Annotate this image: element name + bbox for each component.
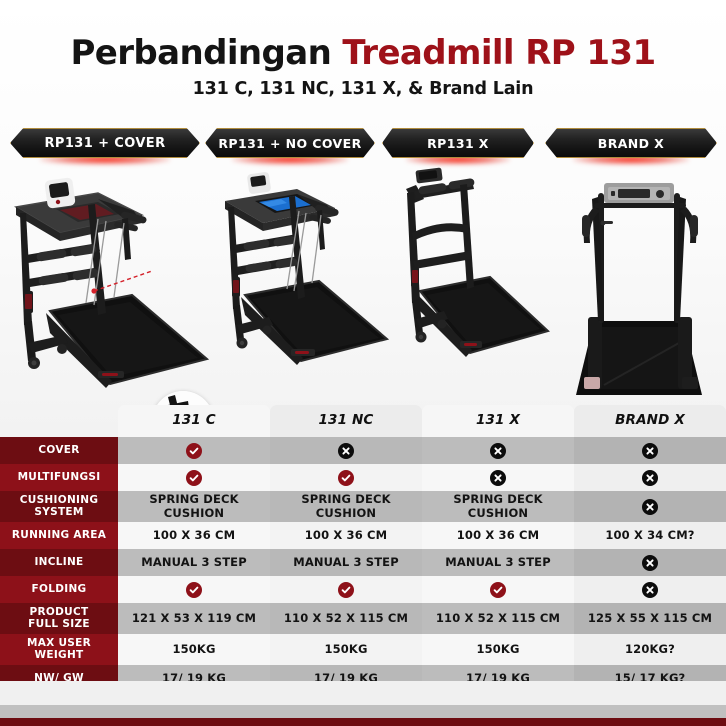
cross-icon [490,443,506,459]
table-cell: MANUAL 3 STEP [422,549,574,576]
table-col-header-131c: 131 C [118,405,270,437]
table-body: COVERMULTIFUNGSICUSHIONINGSYSTEMSPRING D… [0,437,726,692]
table-row-label: MULTIFUNGSI [0,464,118,491]
footer-gray-bar [0,705,726,718]
treadmill-rp131-no-cover-illustration [215,163,395,405]
table-row-label: INCLINE [0,549,118,576]
cross-icon [490,470,506,486]
table-cell: 150KG [118,634,270,665]
check-icon [338,582,354,598]
table-row-label: COVER [0,437,118,464]
table-col-header-131x: 131 X [422,405,574,437]
product-image-rp131-no-cover [215,163,395,405]
table-cell [574,437,726,464]
check-icon [186,443,202,459]
table-cell [118,464,270,491]
check-icon [186,470,202,486]
table-cell: 110 X 52 X 115 CM [422,603,574,634]
table-row: RUNNING AREA100 X 36 CM100 X 36 CM100 X … [0,522,726,549]
product-badge-brand-x[interactable]: BRAND X [545,128,717,158]
table-cell [118,437,270,464]
table-cell [270,576,422,603]
table-cell: 150KG [422,634,574,665]
cross-icon [642,555,658,571]
table-cell: MANUAL 3 STEP [270,549,422,576]
table-cell [574,464,726,491]
badge-label: RP131 X [427,136,489,151]
product-image-rp131-cover [2,163,212,405]
table-col-header-brandx: BRAND X [574,405,726,437]
table-row-label: MAX USERWEIGHT [0,634,118,665]
table-cell [574,549,726,576]
product-image-row: RP131 COVER [0,163,726,405]
table-cell [422,576,574,603]
cross-icon [642,443,658,459]
treadmill-rp131-cover-illustration [2,163,212,405]
page-title-accent: Treadmill RP 131 [342,33,655,73]
cross-icon [338,443,354,459]
table-row-label: RUNNING AREA [0,522,118,549]
badge-label: RP131 + NO COVER [218,136,361,151]
table-row-label: FOLDING [0,576,118,603]
check-icon [490,582,506,598]
table-row: PRODUCTFULL SIZE121 X 53 X 119 CM110 X 5… [0,603,726,634]
product-badge-rp131-no-cover[interactable]: RP131 + NO COVER [205,128,375,158]
infographic-root: Perbandingan Treadmill RP 131 131 C, 131… [0,0,726,726]
product-image-brand-x [560,163,720,405]
table-row: FOLDING [0,576,726,603]
table-corner-cell [0,405,118,437]
table-col-header-131nc: 131 NC [270,405,422,437]
table-row-label: CUSHIONINGSYSTEM [0,491,118,522]
table-row: MAX USERWEIGHT150KG150KG150KG120KG? [0,634,726,665]
product-badge-row: RP131 + COVER RP131 + NO COVER RP131 X B… [0,128,726,162]
table-cell: SPRING DECKCUSHION [270,491,422,522]
cross-icon [642,582,658,598]
table-cell: 125 X 55 X 115 CM [574,603,726,634]
table-row: COVER [0,437,726,464]
table-cell: 100 X 36 CM [422,522,574,549]
footer-red-bar [0,718,726,726]
cross-icon [642,470,658,486]
table-cell: MANUAL 3 STEP [118,549,270,576]
cross-icon [642,499,658,515]
table-header-row: 131 C 131 NC 131 X BRAND X [0,405,726,437]
table-cell [270,437,422,464]
table-cell [422,437,574,464]
table-cell [574,576,726,603]
table-row: INCLINEMANUAL 3 STEPMANUAL 3 STEPMANUAL … [0,549,726,576]
treadmill-rp131-x-illustration [398,163,553,405]
table-row: CUSHIONINGSYSTEMSPRING DECKCUSHIONSPRING… [0,491,726,522]
table-cell: SPRING DECKCUSHION [118,491,270,522]
check-icon [186,582,202,598]
table-cell: 100 X 36 CM [270,522,422,549]
table-row: MULTIFUNGSI [0,464,726,491]
product-image-rp131-x [398,163,553,405]
table-cell: 120KG? [574,634,726,665]
product-badge-rp131-cover[interactable]: RP131 + COVER [10,128,200,158]
page-subtitle: 131 C, 131 NC, 131 X, & Brand Lain [0,79,726,99]
badge-label: RP131 + COVER [44,136,165,151]
title-block: Perbandingan Treadmill RP 131 131 C, 131… [0,36,726,99]
table-cell: 110 X 52 X 115 CM [270,603,422,634]
table-row-label: PRODUCTFULL SIZE [0,603,118,634]
table-cell: 100 X 36 CM [118,522,270,549]
table-cell [574,491,726,522]
page-title: Perbandingan Treadmill RP 131 [0,36,726,72]
page-title-plain: Perbandingan [70,33,342,73]
table-cell [270,464,422,491]
badge-label: BRAND X [598,136,664,151]
table-cell: 100 X 34 CM? [574,522,726,549]
comparison-table: 131 C 131 NC 131 X BRAND X COVERMULTIFUN… [0,405,726,692]
product-badge-rp131-x[interactable]: RP131 X [382,128,534,158]
table-cell: 150KG [270,634,422,665]
check-icon [338,470,354,486]
footer-spacer [0,681,726,705]
table-cell [422,464,574,491]
table-cell: 121 X 53 X 119 CM [118,603,270,634]
table-cell: SPRING DECKCUSHION [422,491,574,522]
treadmill-brand-x-illustration [560,163,720,405]
table-cell [118,576,270,603]
